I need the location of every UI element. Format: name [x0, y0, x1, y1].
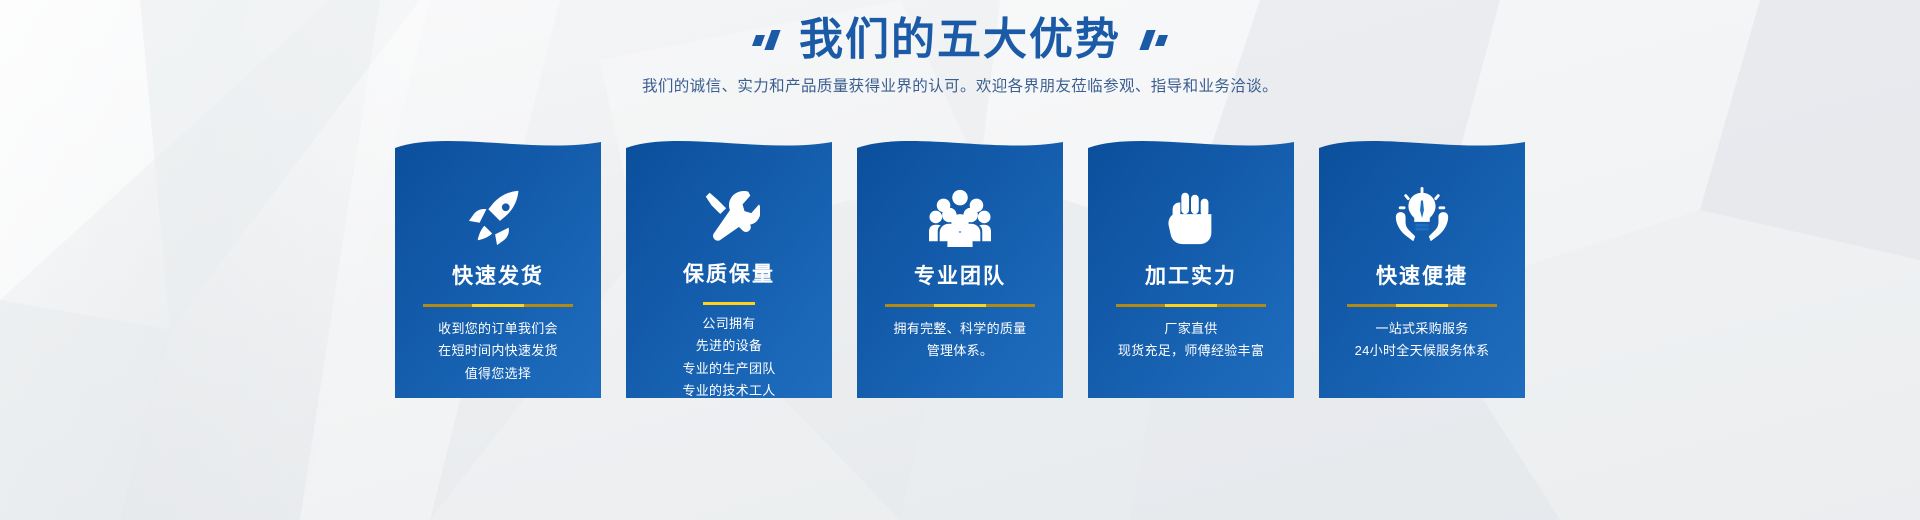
wrench-screwdriver-icon: [697, 184, 761, 246]
wrench-screwdriver-icon-glyph: [698, 184, 760, 246]
page-subtitle: 我们的诚信、实力和产品质量获得业界的认可。欢迎各界朋友莅临参观、指导和业务洽谈。: [0, 74, 1920, 96]
card-description: 厂家直供 现货充足，师傅经验丰富: [1118, 318, 1264, 363]
card-divider: [1116, 304, 1266, 307]
fist-strength-icon-glyph: [1160, 185, 1222, 247]
card-title: 快速发货: [452, 260, 544, 290]
card-content: 快速发货 收到您的订单我们会 在短时间内快速发货 值得您选择: [395, 140, 601, 398]
card-content: 快速便捷 一站式采购服务 24小时全天候服务体系: [1319, 140, 1525, 398]
card-content: 保质保量 公司拥有 先进的设备 专业的生产团队 专业的技术工人: [626, 140, 832, 398]
advantage-card[interactable]: 加工实力 厂家直供 现货充足，师傅经验丰富: [1088, 140, 1294, 398]
card-desc-line: 专业的生产团队: [682, 358, 775, 380]
slash-decor-right-icon: [1143, 30, 1166, 50]
advantage-card[interactable]: 快速便捷 一站式采购服务 24小时全天候服务体系: [1319, 140, 1525, 398]
card-content: 专业团队 拥有完整、科学的质量 管理体系。: [857, 140, 1063, 398]
advantage-card[interactable]: 专业团队 拥有完整、科学的质量 管理体系。: [857, 140, 1063, 398]
rocket-icon-glyph: [467, 185, 529, 247]
card-desc-line: 在短时间内快速发货: [438, 340, 558, 362]
card-description: 拥有完整、科学的质量 管理体系。: [893, 318, 1026, 363]
card-divider: [423, 304, 573, 307]
team-group-icon: [928, 184, 992, 248]
hands-lightbulb-icon-glyph: [1391, 185, 1453, 247]
page-title: 我们的五大优势: [799, 17, 1121, 63]
card-divider: [885, 304, 1035, 307]
card-desc-line: 24小时全天候服务体系: [1355, 340, 1490, 362]
card-desc-line: 公司拥有: [682, 313, 775, 335]
card-title: 加工实力: [1145, 260, 1237, 290]
card-divider: [1347, 304, 1497, 307]
card-desc-line: 拥有完整、科学的质量: [893, 318, 1026, 340]
card-title: 快速便捷: [1376, 260, 1468, 290]
card-desc-line: 收到您的订单我们会: [438, 318, 558, 340]
advantage-card[interactable]: 快速发货 收到您的订单我们会 在短时间内快速发货 值得您选择: [395, 140, 601, 398]
card-title: 保质保量: [683, 258, 775, 288]
card-desc-line: 专业的技术工人: [682, 380, 775, 402]
card-title: 专业团队: [914, 260, 1006, 290]
title-row: 我们的五大优势: [0, 17, 1920, 63]
card-desc-line: 现货充足，师傅经验丰富: [1118, 340, 1264, 362]
advantage-card[interactable]: 保质保量 公司拥有 先进的设备 专业的生产团队 专业的技术工人: [626, 140, 832, 398]
slash-decor-left-icon: [754, 30, 777, 50]
fist-strength-icon: [1159, 184, 1223, 248]
advantage-card-list: 快速发货 收到您的订单我们会 在短时间内快速发货 值得您选择: [0, 140, 1920, 398]
card-description: 公司拥有 先进的设备 专业的生产团队 专业的技术工人: [682, 313, 775, 402]
hands-lightbulb-icon: [1390, 184, 1454, 248]
team-group-icon-glyph: [929, 185, 991, 247]
rocket-icon: [466, 184, 530, 248]
card-description: 收到您的订单我们会 在短时间内快速发货 值得您选择: [438, 318, 558, 385]
section-header: 我们的五大优势 我们的诚信、实力和产品质量获得业界的认可。欢迎各界朋友莅临参观、…: [0, 0, 1920, 96]
card-content: 加工实力 厂家直供 现货充足，师傅经验丰富: [1088, 140, 1294, 398]
card-description: 一站式采购服务 24小时全天候服务体系: [1355, 318, 1490, 363]
card-desc-line: 一站式采购服务: [1355, 318, 1490, 340]
card-desc-line: 先进的设备: [682, 335, 775, 357]
card-desc-line: 厂家直供: [1118, 318, 1264, 340]
card-desc-line: 管理体系。: [893, 340, 1026, 362]
card-desc-line: 值得您选择: [438, 363, 558, 385]
